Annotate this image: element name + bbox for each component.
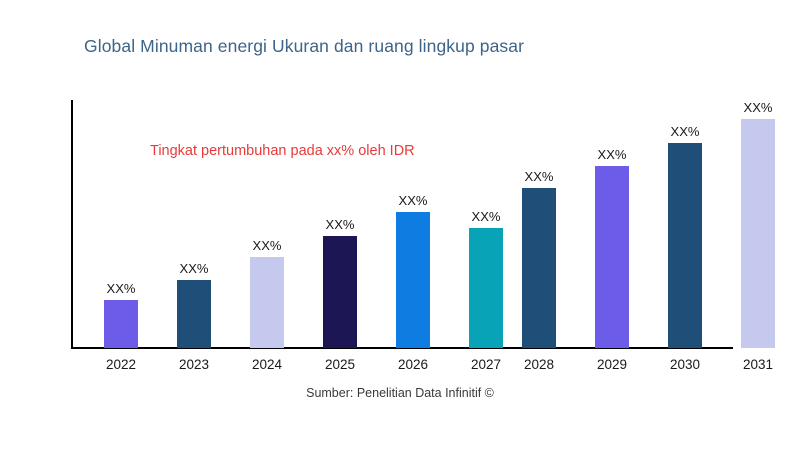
- bar-2022[interactable]: XX%: [104, 300, 138, 348]
- bar-rect-2030[interactable]: [668, 143, 702, 348]
- bar-rect-2023[interactable]: [177, 280, 211, 348]
- x-tick-label-2025: 2025: [311, 356, 369, 374]
- x-tick-label-2022: 2022: [92, 356, 150, 374]
- energy-drinks-market-bar-chart: Global Minuman energi Ukuran dan ruang l…: [0, 0, 800, 450]
- source-note: Sumber: Penelitian Data Infinitif ©: [0, 386, 800, 400]
- x-tick-label-2026: 2026: [384, 356, 442, 374]
- bar-rect-2022[interactable]: [104, 300, 138, 348]
- bar-rect-2029[interactable]: [595, 166, 629, 348]
- bar-rect-2026[interactable]: [396, 212, 430, 348]
- bar-rect-2024[interactable]: [250, 257, 284, 348]
- bar-value-label-2024: XX%: [253, 238, 282, 253]
- bar-value-label-2026: XX%: [399, 193, 428, 208]
- x-tick-label-2028: 2028: [510, 356, 568, 374]
- growth-rate-annotation: Tingkat pertumbuhan pada xx% oleh IDR: [150, 143, 415, 159]
- x-tick-label-2029: 2029: [583, 356, 641, 374]
- bar-2023[interactable]: XX%: [177, 280, 211, 348]
- bar-2030[interactable]: XX%: [668, 143, 702, 348]
- bar-value-label-2025: XX%: [326, 217, 355, 232]
- bar-value-label-2028: XX%: [525, 169, 554, 184]
- bar-value-label-2023: XX%: [180, 261, 209, 276]
- bar-rect-2025[interactable]: [323, 236, 357, 348]
- bar-2028[interactable]: XX%: [522, 188, 556, 348]
- bar-2027[interactable]: XX%: [469, 228, 503, 348]
- bar-value-label-2030: XX%: [671, 124, 700, 139]
- bar-2026[interactable]: XX%: [396, 212, 430, 348]
- x-tick-label-2023: 2023: [165, 356, 223, 374]
- bar-2029[interactable]: XX%: [595, 166, 629, 348]
- x-tick-label-2030: 2030: [656, 356, 714, 374]
- bar-2025[interactable]: XX%: [323, 236, 357, 348]
- x-tick-label-2024: 2024: [238, 356, 296, 374]
- bar-rect-2031[interactable]: [741, 119, 775, 348]
- bar-rect-2028[interactable]: [522, 188, 556, 348]
- bar-2024[interactable]: XX%: [250, 257, 284, 348]
- bar-value-label-2027: XX%: [472, 209, 501, 224]
- bar-2031[interactable]: XX%: [741, 119, 775, 348]
- x-tick-label-2031: 2031: [729, 356, 787, 374]
- x-tick-label-2027: 2027: [457, 356, 515, 374]
- bar-rect-2027[interactable]: [469, 228, 503, 348]
- bars-layer: XX%XX%XX%XX%XX%XX%XX%XX%XX%XX%: [0, 0, 800, 450]
- bar-value-label-2022: XX%: [107, 281, 136, 296]
- bar-value-label-2031: XX%: [744, 100, 773, 115]
- bar-value-label-2029: XX%: [598, 147, 627, 162]
